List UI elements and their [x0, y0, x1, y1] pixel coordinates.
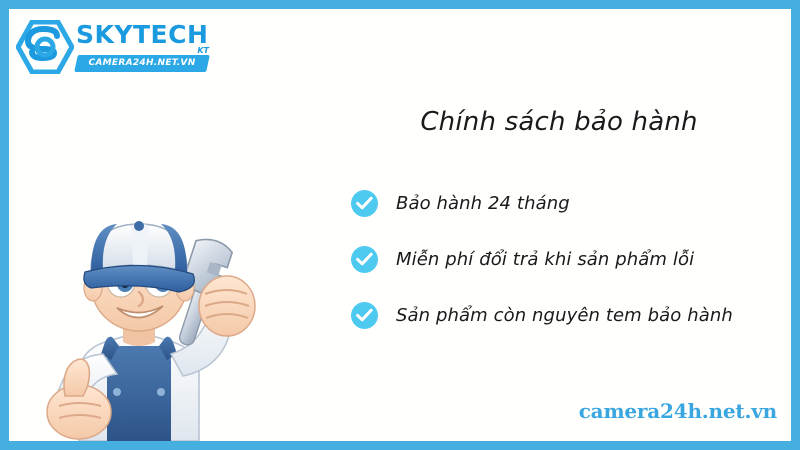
list-item: Bảo hành 24 tháng	[351, 175, 791, 231]
logo-wordmark: SKYTECH KT CAMERA24H.NET.VN	[76, 21, 211, 75]
warranty-policy-banner: SKYTECH KT CAMERA24H.NET.VN	[0, 0, 800, 450]
logo-suffix-text: KT	[197, 46, 209, 55]
check-circle-icon	[351, 302, 378, 329]
check-circle-icon	[351, 246, 378, 273]
list-item: Sản phẩm còn nguyên tem bảo hành	[351, 287, 791, 343]
list-item-label: Bảo hành 24 tháng	[396, 193, 570, 214]
logo-name-text: SKYTECH	[76, 21, 208, 48]
warranty-feature-list: Bảo hành 24 tháng Miễn phí đổi trả khi s…	[351, 175, 791, 343]
logo-banner-text: CAMERA24H.NET.VN	[76, 55, 208, 72]
list-item: Miễn phí đổi trả khi sản phẩm lỗi	[351, 231, 791, 287]
list-item-label: Miễn phí đổi trả khi sản phẩm lỗi	[396, 249, 694, 270]
skytech-hexagon-s-emblem-icon	[16, 20, 74, 74]
technician-thumbs-up-wrench-illustration	[21, 196, 271, 441]
site-logo[interactable]: SKYTECH KT CAMERA24H.NET.VN	[14, 17, 214, 77]
list-item-label: Sản phẩm còn nguyên tem bảo hành	[396, 305, 733, 326]
page-title: Chính sách bảo hành	[339, 107, 779, 137]
site-watermark: camera24h.net.vn	[579, 399, 777, 423]
banner-inner-surface: SKYTECH KT CAMERA24H.NET.VN	[9, 9, 791, 441]
check-circle-icon	[351, 190, 378, 217]
